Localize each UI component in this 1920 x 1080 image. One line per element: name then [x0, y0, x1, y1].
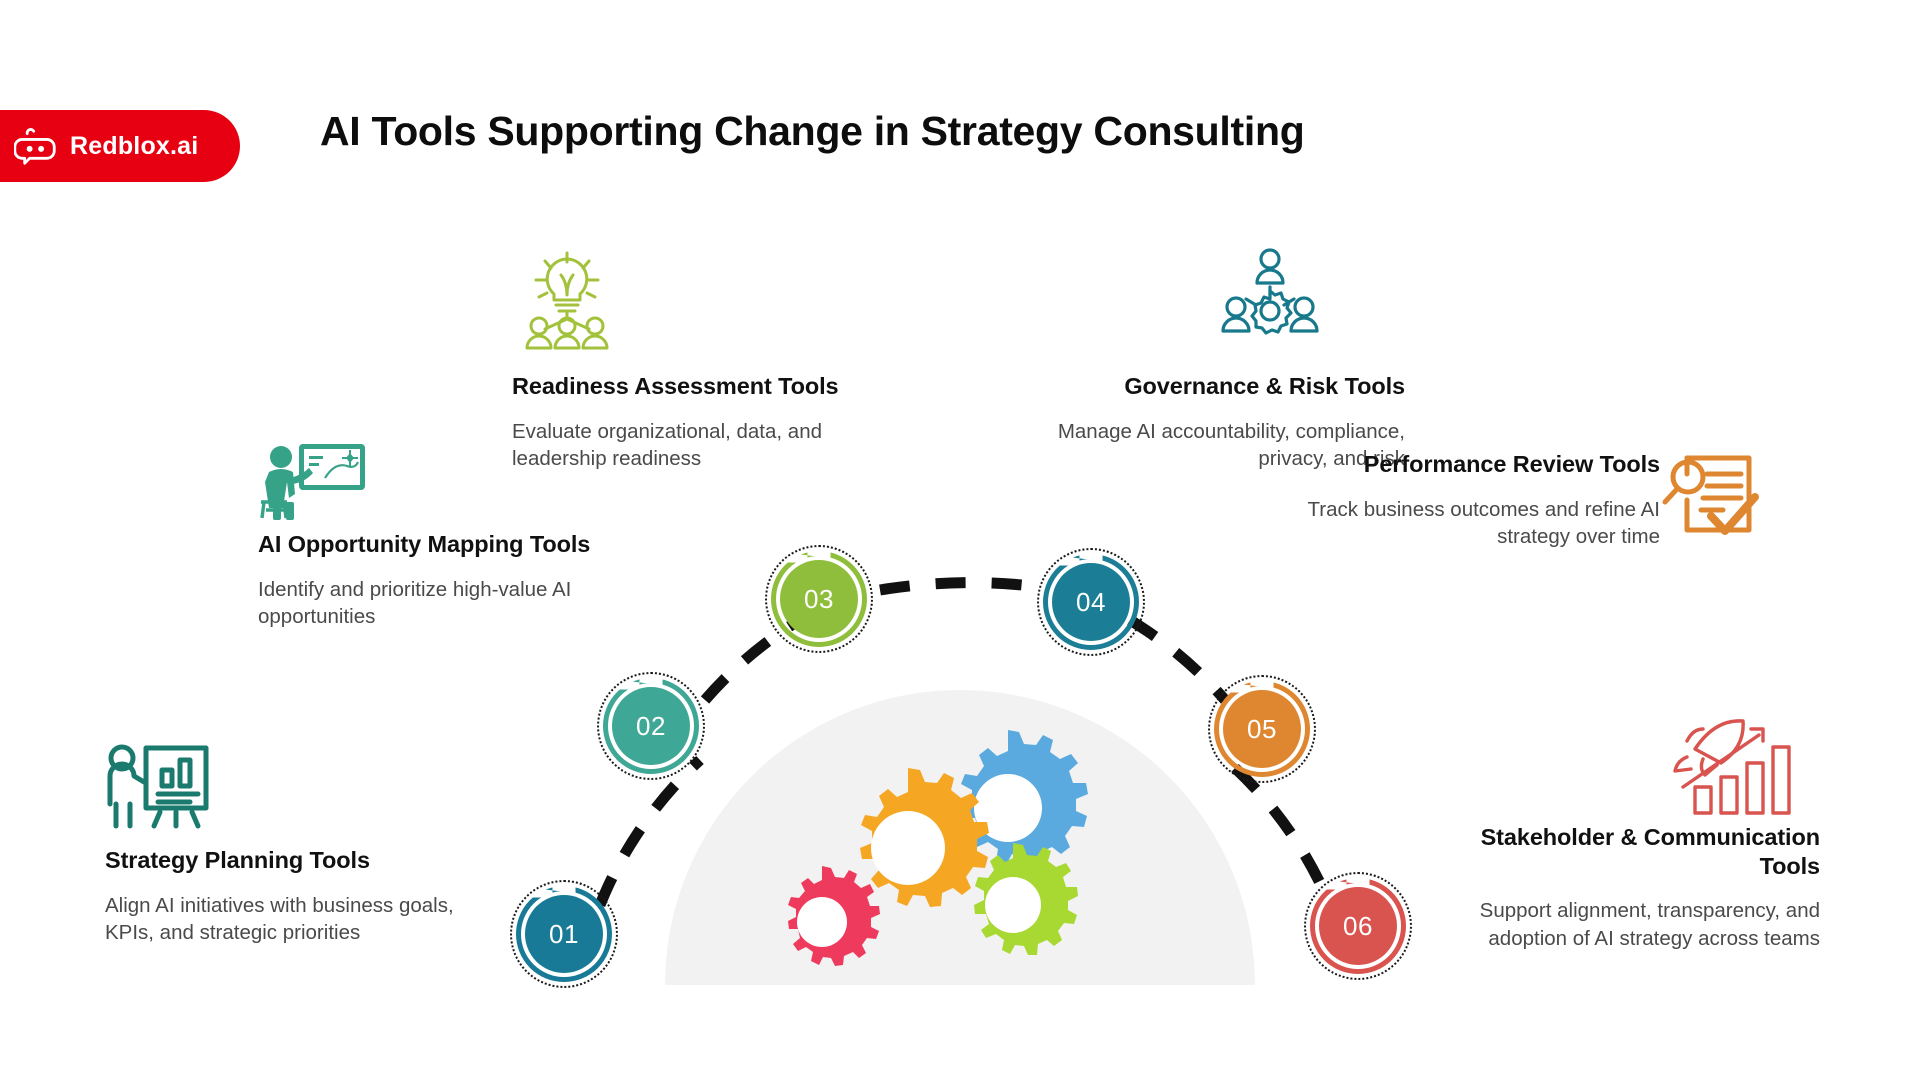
rocket-growth-chart-icon: [1665, 715, 1800, 815]
gear-green-icon: [974, 843, 1078, 955]
step-node-02[interactable]: 02: [597, 672, 705, 780]
person-at-whiteboard-icon: [253, 440, 368, 522]
document-review-checkmark-icon: [1655, 440, 1780, 545]
step-block-03: Readiness Assessment Tools Evaluate orga…: [512, 245, 852, 472]
team-gear-governance-icon: [1220, 245, 1320, 350]
step-description-01: Align AI initiatives with business goals…: [105, 892, 475, 947]
step-block-01: Strategy Planning Tools Align AI initiat…: [105, 740, 475, 946]
step-number-04: 04: [1052, 563, 1130, 641]
gear-red-icon: [788, 866, 880, 966]
gear-blue-icon: [960, 730, 1088, 866]
step-node-03[interactable]: 03: [765, 545, 873, 653]
step-number-05: 05: [1223, 690, 1301, 768]
step-node-05[interactable]: 05: [1208, 675, 1316, 783]
robot-head-icon: [14, 126, 60, 166]
step-number-02: 02: [612, 687, 690, 765]
step-title-05: Performance Review Tools: [1230, 450, 1660, 479]
step-description-06: Support alignment, transparency, and ado…: [1430, 897, 1820, 952]
step-node-04[interactable]: 04: [1037, 548, 1145, 656]
step-title-01: Strategy Planning Tools: [105, 846, 475, 875]
step-number-03: 03: [780, 560, 858, 638]
arc-04-05: [1130, 620, 1225, 700]
step-node-06[interactable]: 06: [1304, 872, 1412, 980]
step-node-01[interactable]: 01: [510, 880, 618, 988]
step-number-06: 06: [1319, 887, 1397, 965]
brand-logo-text: Redblox.ai: [70, 132, 198, 161]
step-number-01: 01: [525, 895, 603, 973]
arc-03-04: [880, 583, 1048, 590]
gear-orange-icon: [860, 768, 989, 907]
gear-cluster: [760, 700, 1110, 990]
step-title-04: Governance & Risk Tools: [1050, 372, 1405, 401]
presentation-person-icon: [100, 740, 215, 830]
step-title-02: AI Opportunity Mapping Tools: [258, 530, 633, 559]
step-block-06: Stakeholder & Communication Tools Suppor…: [1430, 715, 1820, 952]
step-description-05: Track business outcomes and refine AI st…: [1230, 496, 1660, 551]
step-block-05: Performance Review Tools Track business …: [1230, 450, 1660, 550]
arc-05-06: [1235, 768, 1330, 905]
infographic-canvas: Redblox.ai AI Tools Supporting Change in…: [0, 0, 1920, 1080]
step-description-03: Evaluate organizational, data, and leade…: [512, 418, 852, 473]
brand-logo[interactable]: Redblox.ai: [0, 110, 240, 182]
page-title: AI Tools Supporting Change in Strategy C…: [320, 108, 1620, 155]
step-description-02: Identify and prioritize high-value AI op…: [258, 576, 633, 631]
lightbulb-team-icon: [512, 245, 622, 350]
step-title-06: Stakeholder & Communication Tools: [1430, 823, 1820, 880]
step-block-04: Governance & Risk Tools Manage AI accoun…: [1050, 245, 1405, 472]
step-title-03: Readiness Assessment Tools: [512, 372, 852, 401]
